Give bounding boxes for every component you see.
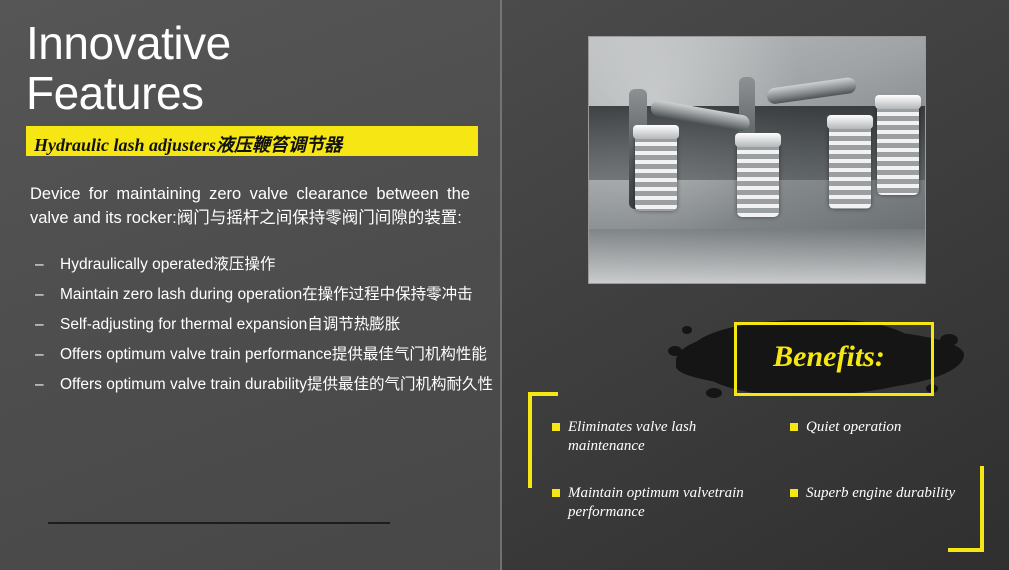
square-bullet-icon — [552, 423, 560, 431]
square-bullet-icon — [552, 489, 560, 497]
benefit-list-item: Maintain optimum valvetrain performance — [568, 484, 778, 522]
valve-spring-cap — [735, 133, 781, 147]
list-item: – Offers optimum valve train durability提… — [30, 373, 500, 396]
title-line-1: Innovative — [26, 18, 466, 68]
benefit-item-label: Superb engine durability — [806, 485, 955, 501]
list-item-label: Self-adjusting for thermal expansion自调节热… — [60, 316, 400, 333]
valve-spring — [737, 141, 779, 217]
engine-photo-image — [589, 37, 925, 283]
benefit-list-item: Superb engine durability — [806, 484, 976, 503]
subtitle-text: Hydraulic lash adjusters液压鞭笞调节器 — [34, 131, 342, 157]
benefit-item-label: Maintain optimum valvetrain performance — [568, 485, 744, 520]
benefit-list-item: Eliminates valve lash maintenance — [568, 418, 768, 456]
benefit-item-label: Eliminates valve lash maintenance — [568, 419, 696, 454]
list-item-label: Maintain zero lash during operation在操作过程… — [60, 286, 473, 303]
bullet-marker-icon: – — [35, 253, 44, 276]
list-item: – Self-adjusting for thermal expansion自调… — [30, 313, 500, 336]
title-line-2: Features — [26, 68, 466, 118]
square-bullet-icon — [790, 489, 798, 497]
bullet-marker-icon: – — [35, 373, 44, 396]
engine-rocker-arm — [766, 77, 857, 105]
list-item: – Maintain zero lash during operation在操作… — [30, 283, 500, 306]
valve-spring — [829, 123, 871, 209]
benefit-bracket-right — [948, 466, 984, 552]
benefit-heading: Benefits: — [704, 340, 954, 373]
valve-spring-cap — [875, 95, 921, 109]
valve-spring-cap — [827, 115, 873, 129]
valve-spring — [635, 133, 677, 211]
list-item-label: Hydraulically operated液压操作 — [60, 256, 275, 273]
page-title: Innovative Features — [26, 18, 466, 118]
bullet-marker-icon: – — [35, 343, 44, 366]
bullet-marker-icon: – — [35, 313, 44, 336]
body-paragraph: Device for maintaining zero valve cleara… — [30, 182, 470, 230]
splash-fleck — [706, 388, 722, 398]
bullet-list: – Hydraulically operated液压操作 – Maintain … — [30, 253, 500, 403]
footer-rule — [48, 522, 390, 524]
bullet-marker-icon: – — [35, 283, 44, 306]
splash-fleck — [668, 346, 682, 356]
engine-photo — [588, 36, 926, 284]
square-bullet-icon — [790, 423, 798, 431]
benefit-bracket-left — [528, 392, 558, 488]
valve-spring-cap — [633, 125, 679, 139]
benefit-item-label: Quiet operation — [806, 419, 901, 435]
benefit-list-item: Quiet operation — [806, 418, 986, 437]
valve-spring — [877, 103, 919, 195]
list-item-label: Offers optimum valve train durability提供最… — [60, 376, 493, 393]
list-item: – Offers optimum valve train performance… — [30, 343, 500, 366]
slide: Innovative Features Hydraulic lash adjus… — [0, 0, 1009, 570]
list-item-label: Offers optimum valve train performance提供… — [60, 346, 487, 363]
splash-fleck — [682, 326, 692, 334]
list-item: – Hydraulically operated液压操作 — [30, 253, 500, 276]
engine-base — [589, 229, 925, 283]
